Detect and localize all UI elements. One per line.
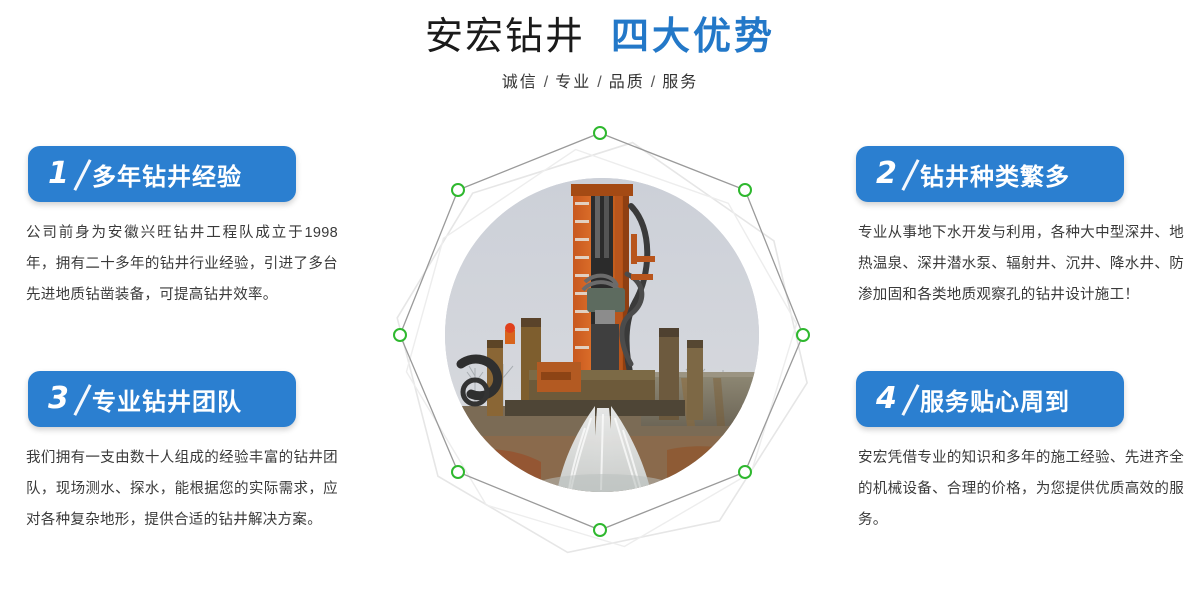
subtitle-separator-0: /: [544, 74, 549, 91]
number-3-icon: 3: [46, 379, 86, 419]
advantage-card-4-title: 服务贴心周到: [920, 382, 1070, 417]
advantage-card-2-title: 钻井种类繁多: [920, 157, 1070, 192]
number-1-icon: 1: [46, 154, 86, 194]
advantage-card-1-body: 公司前身为安徽兴旺钻井工程队成立于1998年，拥有二十多年的钻井行业经验，引进了…: [24, 218, 340, 311]
subtitle-item-2: 品质: [609, 74, 645, 91]
title-accent-text: 四大优势: [611, 16, 775, 58]
subtitle-item-0: 诚信: [502, 74, 538, 91]
subtitle-separator-2: /: [651, 74, 656, 91]
advantage-card-2: 2 钻井种类繁多 专业从事地下水开发与利用，各种大中型深井、地热温泉、深井潜水泵…: [856, 146, 1176, 311]
number-3-digit: 3: [48, 379, 69, 419]
subtitle-item-3: 服务: [662, 74, 698, 91]
advantage-card-1: 1 多年钻井经验 公司前身为安徽兴旺钻井工程队成立于1998年，拥有二十多年的钻…: [24, 146, 344, 311]
number-4-digit: 4: [876, 379, 897, 419]
polygon-node-icon: [594, 524, 606, 536]
advantage-card-3-header: 3 专业钻井团队: [28, 371, 296, 427]
polygon-node-icon: [594, 127, 606, 139]
number-2-icon: 2: [874, 154, 914, 194]
center-graphic: [370, 100, 830, 580]
advantage-card-2-body: 专业从事地下水开发与利用，各种大中型深井、地热温泉、深井潜水泵、辐射井、沉井、降…: [856, 218, 1186, 311]
advantage-card-3-title: 专业钻井团队: [92, 382, 242, 417]
subtitle-separator-1: /: [597, 74, 602, 91]
number-2-digit: 2: [876, 154, 897, 194]
number-slash-decoration: [73, 159, 91, 191]
advantage-card-3-body: 我们拥有一支由数十人组成的经验丰富的钻井团队，现场测水、探水，能根据您的实际需求…: [24, 443, 340, 536]
subtitle-item-1: 专业: [555, 74, 591, 91]
advantage-card-4-header: 4 服务贴心周到: [856, 371, 1124, 427]
page-header: 安宏钻井四大优势 诚信/专业/品质/服务: [0, 0, 1200, 110]
drilling-rig-illustration: [445, 178, 759, 492]
page-title: 安宏钻井四大优势: [0, 12, 1200, 62]
polygon-node-icon: [797, 329, 809, 341]
number-slash-decoration: [73, 384, 91, 416]
advantage-card-2-header: 2 钻井种类繁多: [856, 146, 1124, 202]
number-4-icon: 4: [874, 379, 914, 419]
advantage-card-4: 4 服务贴心周到 安宏凭借专业的知识和多年的施工经验、先进齐全的机械设备、合理的…: [856, 371, 1176, 536]
number-slash-decoration: [901, 159, 919, 191]
subtitle-tagline: 诚信/专业/品质/服务: [0, 68, 1200, 92]
number-slash-decoration: [901, 384, 919, 416]
advantage-card-4-body: 安宏凭借专业的知识和多年的施工经验、先进齐全的机械设备、合理的价格，为您提供优质…: [856, 443, 1186, 536]
number-1-digit: 1: [48, 154, 69, 194]
title-company-name: 安宏钻井: [425, 16, 585, 58]
advantage-card-1-title: 多年钻井经验: [92, 157, 242, 192]
advantage-card-1-header: 1 多年钻井经验: [28, 146, 296, 202]
advantage-card-3: 3 专业钻井团队 我们拥有一支由数十人组成的经验丰富的钻井团队，现场测水、探水，…: [24, 371, 344, 536]
drilling-rig-photo: [445, 178, 759, 492]
polygon-node-icon: [394, 329, 406, 341]
